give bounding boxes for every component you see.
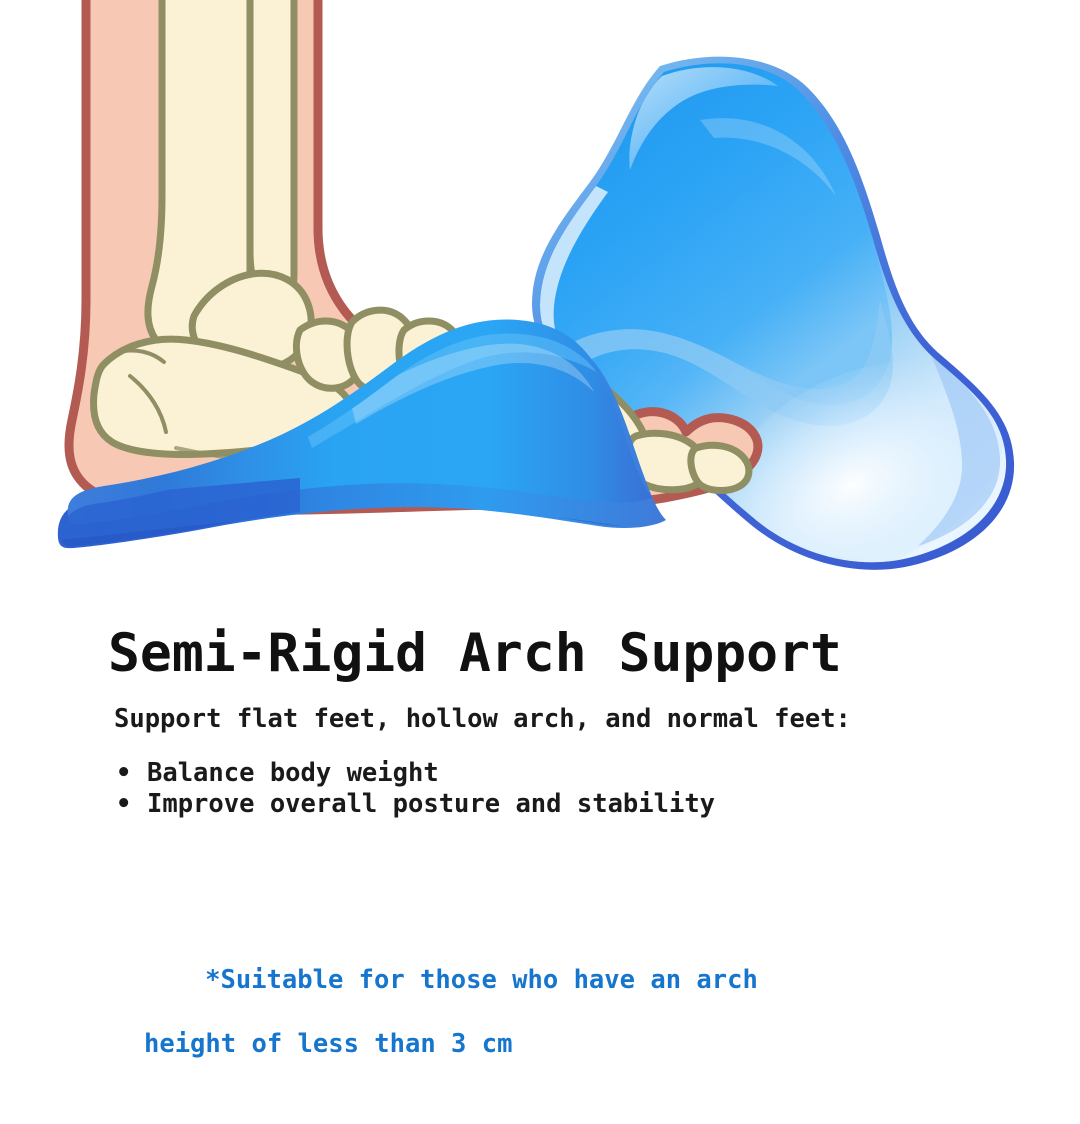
fibula-bone <box>250 0 294 303</box>
bullet-marker-icon: • <box>116 758 131 789</box>
list-item-label: Improve overall posture and stability <box>147 789 715 819</box>
distal-phalanx-bone <box>691 445 749 490</box>
subtitle-text: Support flat feet, hollow arch, and norm… <box>114 704 851 734</box>
infographic-page: Semi-Rigid Arch Support Support flat fee… <box>0 0 1080 1080</box>
list-item-label: Balance body weight <box>147 758 439 788</box>
text-content-block: Semi-Rigid Arch Support Support flat fee… <box>0 600 1080 1080</box>
footnote-line-1: *Suitable for those who have an arch <box>205 965 758 995</box>
page-title: Semi-Rigid Arch Support <box>108 624 842 685</box>
footnote-note: *Suitable for those who have an arch hei… <box>113 932 758 1124</box>
product-illustration <box>0 0 1080 600</box>
list-item: • Balance body weight <box>114 758 715 789</box>
list-item: • Improve overall posture and stability <box>114 789 715 820</box>
benefits-list: • Balance body weight • Improve overall … <box>114 758 715 820</box>
footnote-line-2: height of less than 3 cm <box>113 1028 758 1060</box>
bullet-marker-icon: • <box>116 789 131 820</box>
